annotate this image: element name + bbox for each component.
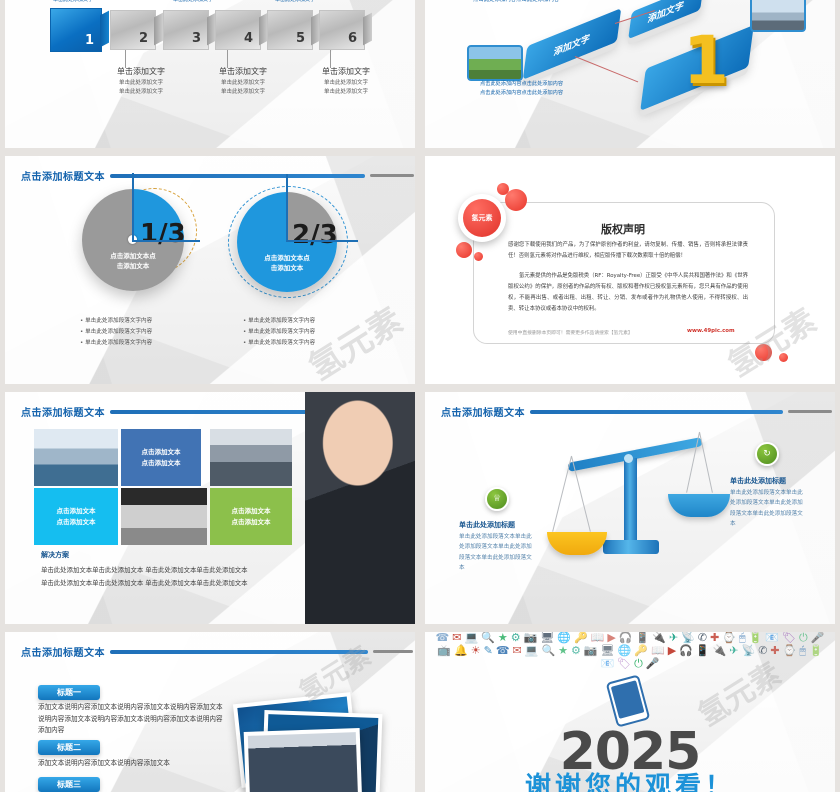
tech-icon: 🔑 (574, 632, 588, 643)
bullet-item: 单击此处添加段落文字内容 (80, 316, 152, 327)
tech-icon: 🖥 (601, 645, 615, 656)
slide3-axis-h-2 (286, 240, 358, 242)
tech-icon: 🎧 (619, 632, 633, 643)
scale-string-right (699, 432, 713, 493)
slide2-big-number: 1 (683, 28, 729, 94)
tech-icon: ✎ (484, 645, 493, 656)
tech-icon: ✉ (513, 645, 522, 656)
page-title: 点击添加标题文本 (21, 404, 105, 419)
bullet-item: 单击此处添加段落文字内容 (80, 338, 152, 349)
slide-5-photo-grid[interactable]: 点击添加标题文本 点击添加文本 点击添加文本 点击添加文本 点击添加文本 点击添… (5, 392, 415, 624)
copyright-url[interactable]: www.49pic.com (687, 328, 735, 334)
tech-icon: ▶ (668, 645, 676, 656)
slide3-axis-v-2 (286, 174, 288, 242)
slide1-caption-line: 单击此处添加文字 (95, 88, 187, 97)
tech-icon: ★ (558, 645, 568, 656)
tech-icon: 📷 (584, 645, 598, 656)
slide2-connector-line (575, 56, 638, 82)
tech-icon: 🔌 (652, 632, 666, 643)
slide1-caption-3: 单击添加文字 单击此处添加文字 单击此处添加文字 (300, 66, 392, 96)
tech-icon: 📡 (742, 645, 756, 656)
copyright-paragraph-2: 氢元素提供的作品是免版税类（RF：Royalty-Free）正版受《中华人民共和… (508, 271, 748, 315)
tech-icon: ☎ (436, 632, 450, 643)
slide2-landscape-photo[interactable] (467, 45, 523, 81)
slide1-top-caption-1: 单击此处添加文字 (53, 0, 93, 3)
slide5-text-cell-2[interactable]: 点击添加文本 点击添加文本 (34, 488, 118, 545)
tech-icon: 💻 (525, 645, 539, 656)
tech-icon: 🌐 (557, 632, 571, 643)
tag-label: 标题三 (57, 779, 81, 790)
tech-icon: 🔑 (634, 645, 648, 656)
tech-icon: 🔔 (454, 645, 468, 656)
tech-icon: ✆ (758, 645, 767, 656)
tech-icon: ✚ (710, 632, 719, 643)
tech-icon: ⌚ (722, 632, 736, 643)
slide7-title-block: 点击添加标题文本 (21, 644, 413, 659)
tech-icon: 🖱 (799, 645, 806, 656)
slide7-body-1: 添加文本说明内容添加文本说明内容添加文本说明内容添加文本说明内容添加文本说明内容… (38, 702, 224, 737)
thank-you-label: 谢谢您的观看！ (425, 766, 835, 792)
tech-icon: ⏻ (634, 658, 643, 669)
slide7-body-2: 添加文本说明内容添加文本说明内容添加文本 (38, 758, 224, 770)
tech-icon: 📡 (681, 632, 695, 643)
slide1-cube-number: 5 (296, 31, 305, 46)
tech-icon: ⚙ (511, 632, 521, 643)
tech-icon: 🔍 (481, 632, 495, 643)
slide3-fraction-1: 1/3 (140, 219, 186, 249)
page-title: 点击添加标题文本 (21, 168, 105, 183)
slide3-fraction-2: 2/3 (292, 220, 338, 250)
pointing-hand-photo (305, 392, 415, 624)
slide1-caption-heading: 单击添加文字 (197, 66, 289, 77)
tech-icon: 📧 (765, 632, 779, 643)
slide1-cube-6[interactable]: 6 (319, 10, 363, 48)
cell-label: 点击添加文本 点击添加文本 (232, 506, 271, 527)
tech-icon: 📱 (696, 645, 710, 656)
tag-label: 标题二 (57, 742, 81, 753)
slide1-cube-number: 3 (192, 31, 201, 46)
slide-8-thank-you[interactable]: ☎✉💻🔍★⚙📷🖥🌐🔑📖▶🎧📱🔌✈📡✆✚⌚🖱🔋📧🏷⏻🎤📺🔔☀✎☎✉💻🔍★⚙📷🖥🌐🔑… (425, 632, 835, 792)
slide3-caption-2: 点击添加文本点 击添加文本 (237, 254, 337, 274)
tech-icon: 🎤 (646, 658, 660, 669)
tech-icon: ⚙ (571, 645, 581, 656)
decor-dot (505, 189, 527, 211)
slide2-left-caption-2: 点击此处添加内容点击此处添加内容 (480, 89, 563, 97)
tech-icon: 📷 (524, 632, 538, 643)
tech-icon: ✆ (698, 632, 707, 643)
scale-pivot (624, 454, 633, 463)
tech-icon: ☎ (496, 645, 510, 656)
scale-string-left (552, 456, 572, 532)
slide1-caption-line: 单击此处添加文字 (197, 88, 289, 97)
slide3-bullets-right: 单击此处添加段落文字内容 单击此处添加段落文字内容 单击此处添加段落文字内容 (243, 316, 315, 349)
slide-1-cube-timeline[interactable]: 单击此处添加文字 单击此处添加文字 单击此处添加文字 1 2 3 4 (5, 0, 415, 148)
tech-icon: 🔋 (749, 632, 763, 643)
slide5-calculator-photo[interactable] (121, 488, 207, 545)
slide5-office-photo[interactable] (34, 429, 118, 486)
tech-icon: ☀ (471, 645, 481, 656)
slide1-top-caption-2: 单击此处添加文字 (173, 0, 213, 3)
decor-dot (474, 252, 483, 261)
slide1-cube-number: 1 (85, 33, 94, 48)
decor-dot (779, 353, 788, 362)
tech-icon: 🏷 (617, 658, 631, 669)
slide1-caption-2: 单击添加文字 单击此处添加文字 单击此处添加文字 (197, 66, 289, 96)
slide1-caption-heading: 单击添加文字 (95, 66, 187, 77)
slide1-top-caption-3: 单击此处添加文字 (275, 0, 315, 3)
copyright-paragraph-1: 感谢您下载使用我们的产品，为了保护原创作者的利益，请勿复制、传播、销售，否则将承… (508, 240, 748, 262)
slide1-cube-number: 6 (348, 31, 357, 46)
slide1-caption-heading: 单击添加文字 (300, 66, 392, 77)
slide7-tag-1[interactable]: 标题一 (38, 685, 100, 700)
slide1-cube-number: 4 (244, 31, 253, 46)
tech-icon: ▶ (607, 632, 615, 643)
scale-post (624, 458, 637, 548)
bullet-item: 单击此处添加段落文字内容 (80, 327, 152, 338)
slide6-title-block: 点击添加标题文本 (441, 404, 832, 419)
slide1-cube-5[interactable]: 5 (267, 10, 311, 48)
tech-icon: 🔍 (541, 645, 555, 656)
slide3-bullets-left: 单击此处添加段落文字内容 单击此处添加段落文字内容 单击此处添加段落文字内容 (80, 316, 152, 349)
copyright-heading: 版权声明 (473, 221, 773, 237)
slide2-left-caption-1: 点击此处添加内容点击此处添加内容 (480, 80, 563, 88)
slide3-axis-h-1 (132, 240, 200, 242)
slide2-businessman-photo[interactable] (750, 0, 806, 32)
solution-heading: 解决方案 (41, 550, 69, 560)
people-icon: ♕ (485, 487, 509, 511)
ppt-preview-sheet: 单击此处添加文字 单击此处添加文字 单击此处添加文字 1 2 3 4 (0, 0, 840, 788)
scale-pan-left (547, 532, 607, 555)
tech-icon: ★ (498, 632, 508, 643)
slide-4-copyright[interactable]: 氢元素 版权声明 感谢您下载使用我们的产品，为了保护原创作者的利益，请勿复制、传… (425, 156, 835, 384)
tech-icon: 🎧 (679, 645, 693, 656)
decor-dot (456, 242, 472, 258)
slide6-left-heading: 单击此处添加标题 (459, 520, 515, 530)
copyright-footer: 使用中直接删除本页即可！需要更多作品请搜索【氢元素】 (508, 329, 633, 336)
cell-label: 点击添加文本 点击添加文本 (142, 447, 181, 468)
tech-icon: ✚ (770, 645, 779, 656)
slide3-caption-1: 点击添加文本点 击添加文本 (82, 252, 184, 272)
tech-icon: 🔋 (809, 645, 823, 656)
scale-base (603, 540, 659, 554)
slide1-caption-line: 单击此处添加文字 (300, 79, 392, 88)
slide1-cube-1[interactable]: 1 (50, 8, 100, 50)
slide-2-iso-books[interactable]: 点击此处添加内容点击此处添加内容 添加文字 添加文字 1 点击此处添加内容点击此… (425, 0, 835, 148)
tech-icon: ✈ (669, 632, 678, 643)
cell-label: 点击添加文本 点击添加文本 (57, 506, 96, 527)
slide6-right-heading: 单击此处添加标题 (730, 476, 786, 486)
bullet-item: 单击此处添加段落文字内容 (243, 316, 315, 327)
tech-icon: 💻 (464, 632, 478, 643)
slide1-cube-4[interactable]: 4 (215, 10, 259, 48)
slide1-caption-1: 单击添加文字 单击此处添加文字 单击此处添加文字 (95, 66, 187, 96)
solution-line: 单击此处添加文本单击此处添加文本 单击此处添加文本单击此处添加文本 (41, 577, 248, 589)
tech-icon: ✉ (452, 632, 461, 643)
slide-3-fraction-donuts[interactable]: 点击添加标题文本 1/3 点击添加文本点 击添加文本 2/3 点击添加文本点 (5, 156, 415, 384)
tech-icon: ⌚ (783, 645, 797, 656)
tablet-icon (606, 674, 651, 727)
slide5-text-cell-3[interactable]: 点击添加文本 点击添加文本 (210, 488, 292, 545)
slide7-photo-3[interactable] (244, 728, 363, 792)
slide3-title-block: 点击添加标题文本 (21, 168, 414, 183)
slide5-text-cell-1[interactable]: 点击添加文本 点击添加文本 (121, 429, 201, 486)
slide6-left-body: 单击此处添加段落文本单击此处添加段落文本单击此处添加段落文本单击此处添加段落文本 (459, 532, 535, 573)
tech-icon: 📱 (636, 632, 650, 643)
slide2-top-note: 点击此处添加内容点击此处添加内容 (473, 0, 559, 5)
tag-label: 标题一 (57, 687, 81, 698)
slide1-caption-line: 单击此处添加文字 (95, 79, 187, 88)
refresh-icon: ↻ (755, 442, 779, 466)
solution-line: 单击此处添加文本单击此处添加文本 单击此处添加文本单击此处添加文本 (41, 564, 248, 576)
slide1-caption-line: 单击此处添加文字 (300, 88, 392, 97)
slide5-meeting-photo[interactable] (210, 429, 292, 486)
tech-icon: 🔌 (713, 645, 727, 656)
scale-pan-right (668, 494, 730, 517)
page-title: 点击添加标题文本 (21, 644, 105, 659)
slide1-caption-line: 单击此处添加文字 (197, 79, 289, 88)
decor-dot (755, 344, 772, 361)
slide-7-tagged-list[interactable]: 点击添加标题文本 标题一 添加文本说明内容添加文本说明内容添加文本说明内容添加文… (5, 632, 415, 792)
tech-icon: 📺 (437, 645, 451, 656)
tech-icon: 🏷 (782, 632, 796, 643)
tech-icon-cloud: ☎✉💻🔍★⚙📷🖥🌐🔑📖▶🎧📱🔌✈📡✆✚⌚🖱🔋📧🏷⏻🎤📺🔔☀✎☎✉💻🔍★⚙📷🖥🌐🔑… (433, 632, 827, 680)
page-title: 点击添加标题文本 (441, 404, 525, 419)
tech-icon: ⏻ (799, 632, 808, 643)
tech-icon: 🖥 (540, 632, 554, 643)
bullet-item: 单击此处添加段落文字内容 (243, 338, 315, 349)
tech-icon: 📖 (591, 632, 605, 643)
bullet-item: 单击此处添加段落文字内容 (243, 327, 315, 338)
tech-icon: 🎤 (811, 632, 825, 643)
slide1-cube-number: 2 (139, 31, 148, 46)
slide7-tag-3[interactable]: 标题三 (38, 777, 100, 792)
tech-icon: 🌐 (618, 645, 632, 656)
slide7-tag-2[interactable]: 标题二 (38, 740, 100, 755)
tech-icon: ✈ (729, 645, 738, 656)
slide-6-balance-scale[interactable]: 点击添加标题文本 ♕ 单击此处添加标题 单击此处添加段落文本单击此处添加段落文本… (425, 392, 835, 624)
slide1-cube-2[interactable]: 2 (110, 10, 154, 48)
tech-icon: 📖 (651, 645, 665, 656)
tech-icon: 📧 (600, 658, 614, 669)
slide6-right-body: 单击此处添加段落文本单击此处添加段落文本单击此处添加段落文本单击此处添加段落文本 (730, 488, 808, 529)
slide1-cube-3[interactable]: 3 (163, 10, 207, 48)
slide3-axis-v-1 (132, 173, 134, 241)
tech-icon: 🖱 (739, 632, 746, 643)
